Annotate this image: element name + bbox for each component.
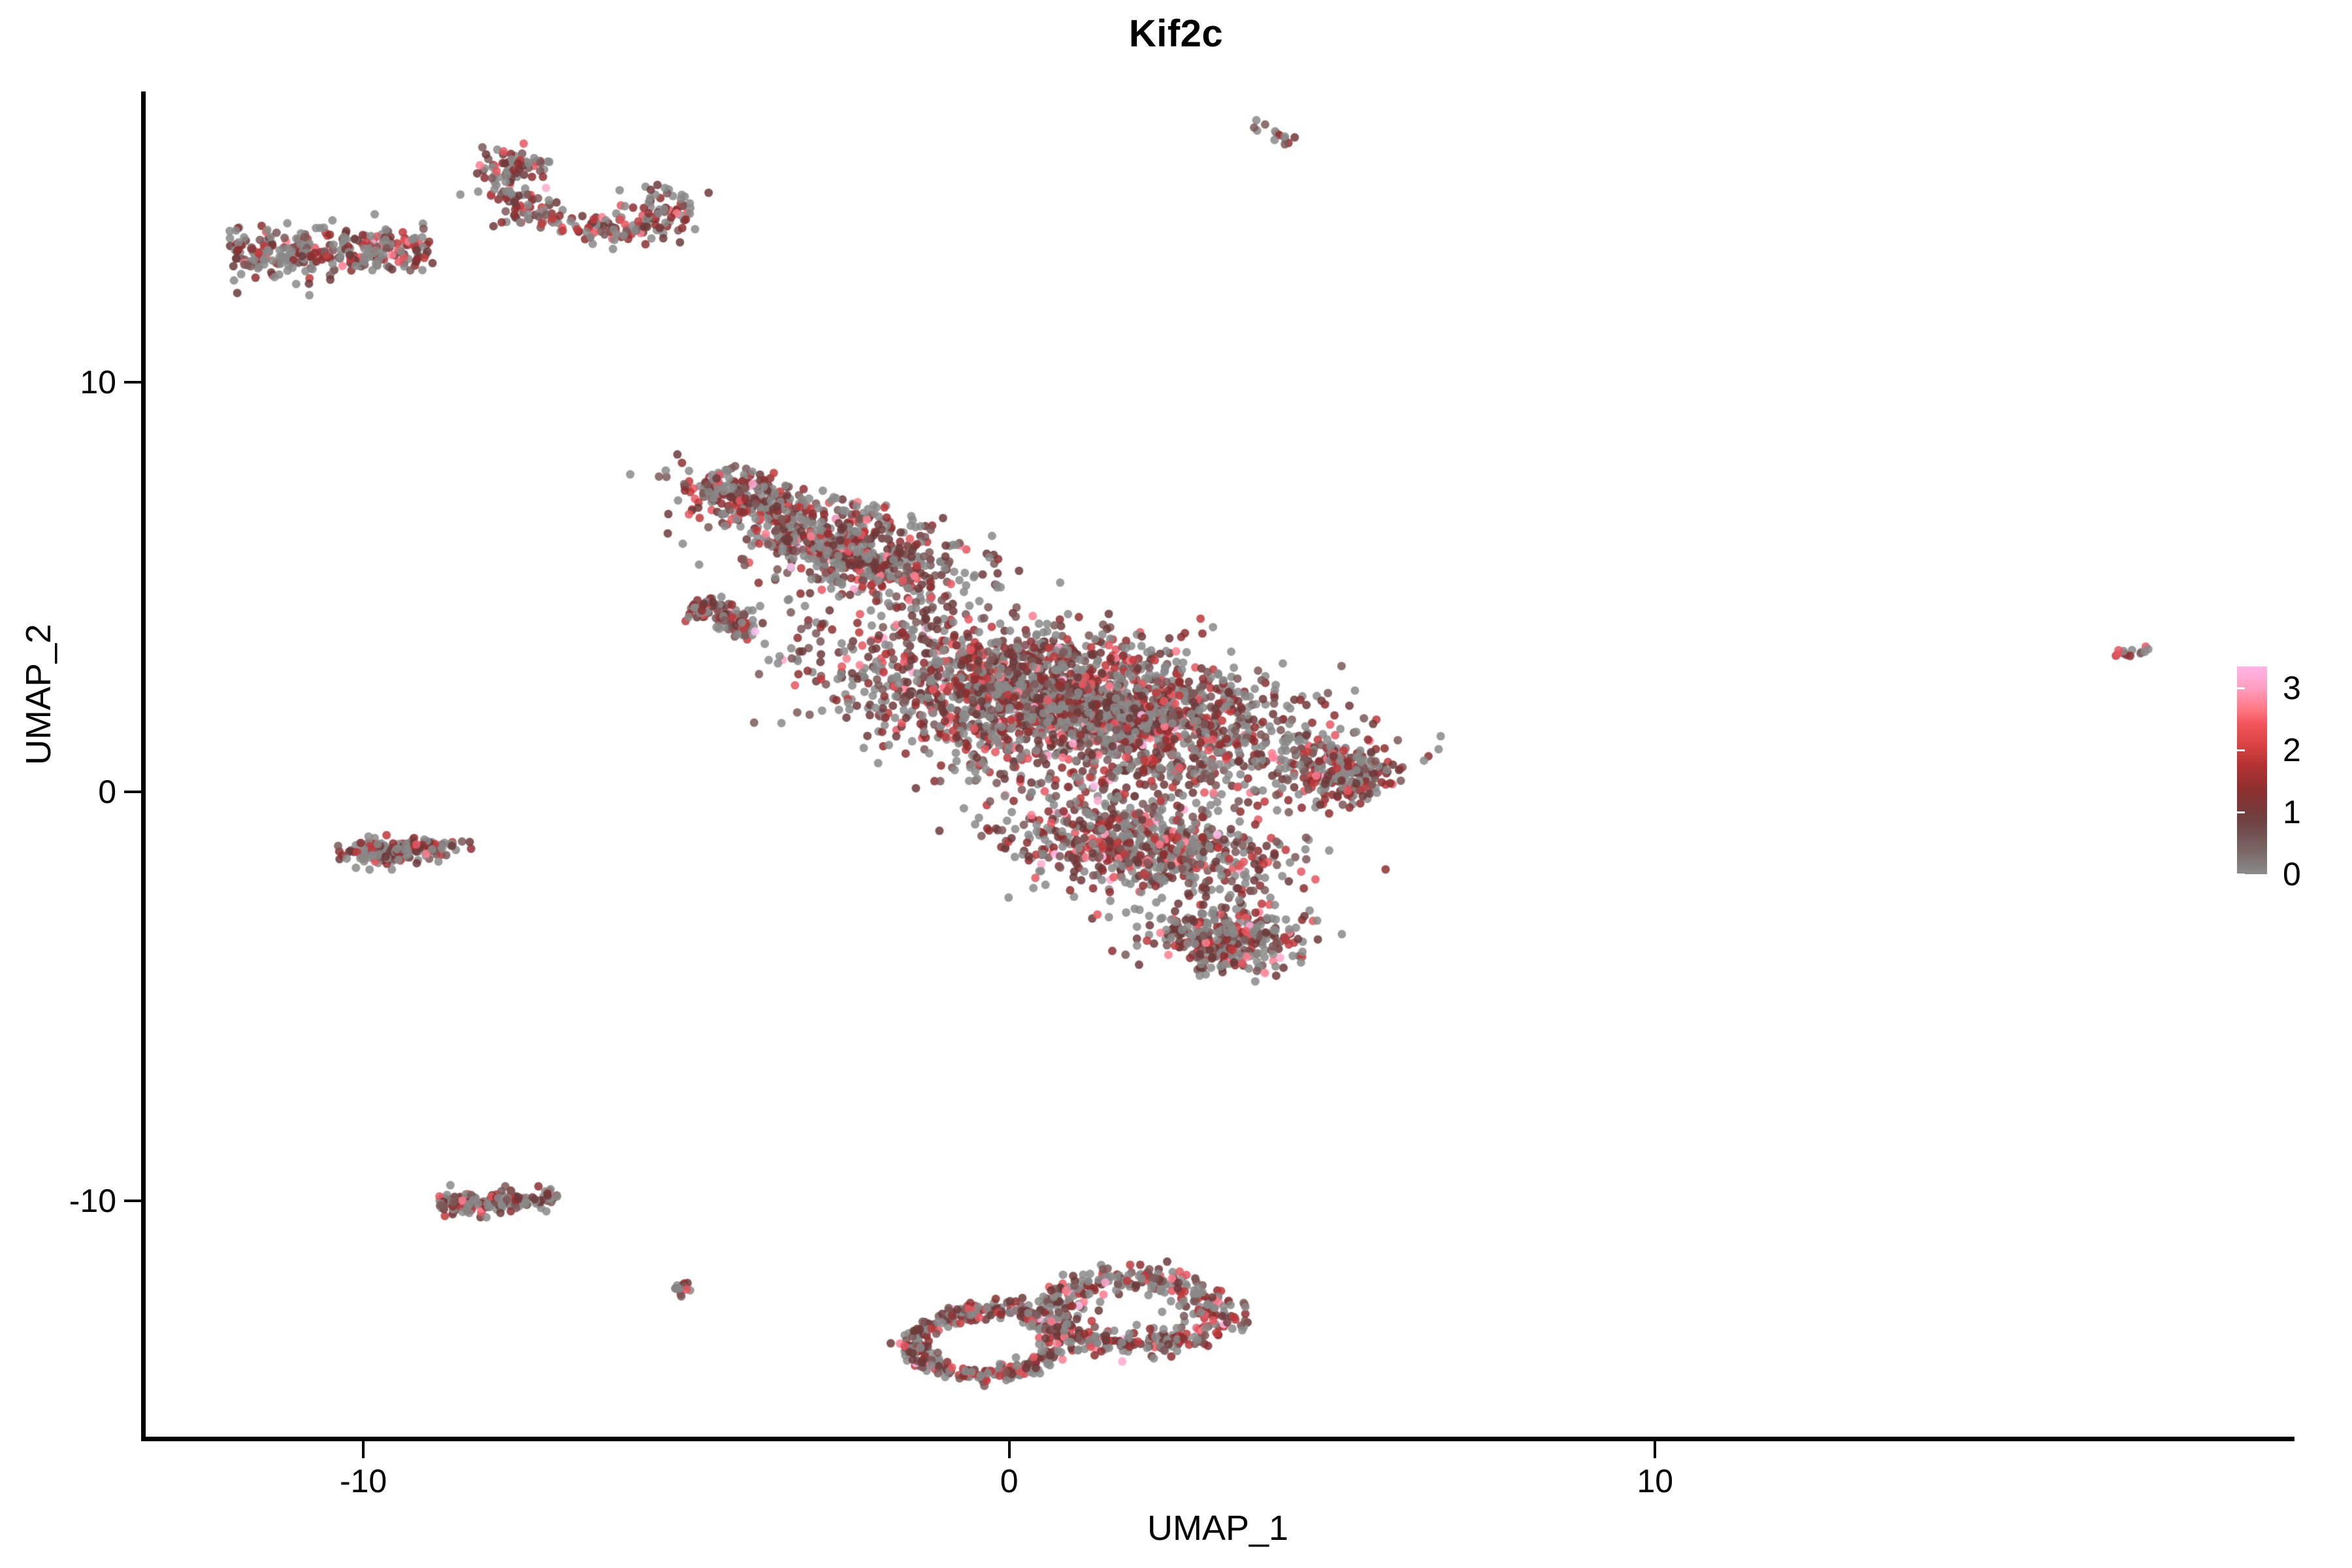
umap-feature-plot: Kif2c -10010 100-10 UMAP_1 UMAP_2 3210 [0, 0, 2352, 1568]
legend-tick-mark [2334, 749, 2342, 751]
legend-tick-label: 0 [2283, 855, 2301, 893]
legend-tick-mark [2237, 749, 2245, 751]
legend-tick-label: 2 [2283, 731, 2301, 769]
legend-tick-mark [2334, 687, 2342, 689]
y-axis-line [141, 91, 146, 1441]
y-tick-label: 10 [80, 363, 116, 401]
x-axis-title: UMAP_1 [141, 1508, 2295, 1548]
plot-panel [144, 91, 2295, 1439]
x-axis-line [141, 1437, 2295, 1441]
scatter-canvas [144, 91, 2295, 1439]
legend-tick-mark [2237, 687, 2245, 689]
x-tick-label: -10 [340, 1462, 387, 1500]
y-tick-mark [124, 791, 141, 793]
x-tick-label: 10 [1637, 1462, 1673, 1500]
legend-tick-mark [2334, 874, 2342, 875]
legend-tick-label: 3 [2283, 669, 2301, 707]
legend-colorbar [2237, 666, 2267, 874]
color-legend: 3210 [2237, 666, 2342, 882]
y-axis-title: UMAP_2 [18, 624, 59, 765]
legend-tick-mark [2237, 811, 2245, 813]
x-tick-mark [1654, 1441, 1656, 1458]
legend-tick-mark [2334, 811, 2342, 813]
page-title: Kif2c [0, 12, 2352, 56]
legend-tick-label: 1 [2283, 793, 2301, 831]
y-tick-label: 0 [98, 773, 116, 811]
x-tick-label: 0 [1000, 1462, 1019, 1500]
legend-tick-mark [2237, 874, 2245, 875]
y-tick-mark [124, 1200, 141, 1202]
y-tick-mark [124, 381, 141, 384]
x-tick-mark [1008, 1441, 1011, 1458]
y-tick-label: -10 [69, 1182, 116, 1220]
x-tick-mark [362, 1441, 365, 1458]
